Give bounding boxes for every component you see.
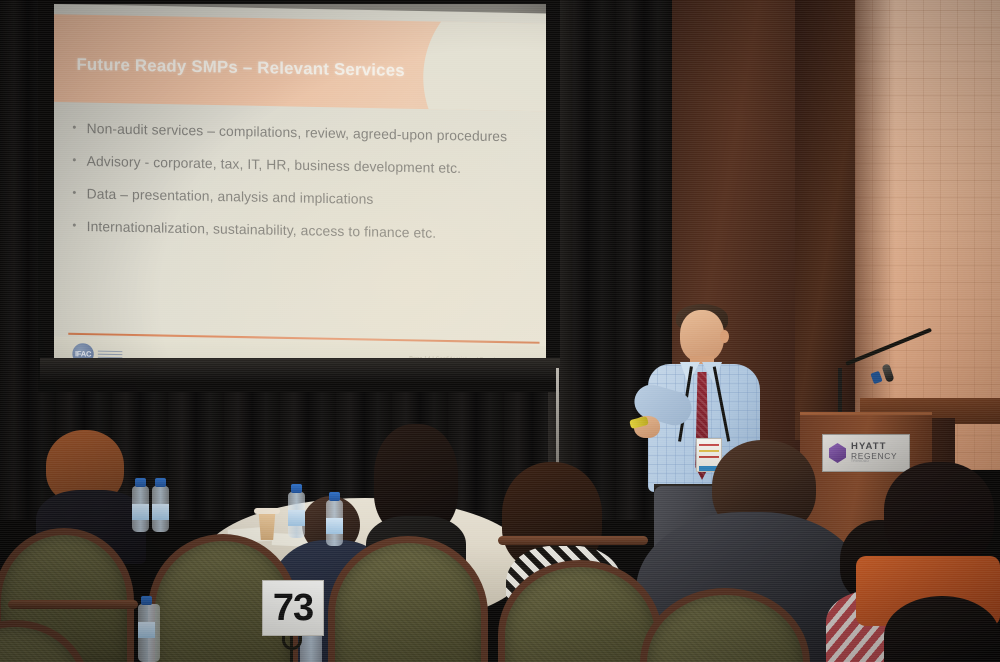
bullet-glyph-icon: • — [72, 217, 86, 237]
slide-bullet-item: • Advisory - corporate, tax, IT, HR, bus… — [72, 151, 541, 179]
water-bottle — [152, 486, 169, 532]
bottle-cap — [141, 596, 152, 605]
slide-bullet-text: Data – presentation, analysis and implic… — [87, 184, 374, 209]
bottle-cap — [155, 478, 166, 487]
water-bottle — [288, 492, 305, 538]
slide-bullet-item: • Internationalization, sustainability, … — [72, 217, 541, 245]
slide-bullet-text: Advisory - corporate, tax, IT, HR, busin… — [87, 152, 461, 179]
attendee-hair — [884, 462, 994, 566]
presenter-head — [680, 310, 724, 362]
chair-rail — [498, 536, 648, 545]
table-number-sign: 73 — [262, 580, 324, 636]
bottle-label — [152, 504, 169, 520]
bottle-label — [326, 518, 343, 534]
microphone-stand — [838, 368, 842, 416]
projection-screen: Future Ready SMPs – Relevant Services • … — [54, 4, 546, 361]
slide-bullet-text: Non-audit services – compilations, revie… — [87, 119, 508, 146]
slide-bullet-item: • Data – presentation, analysis and impl… — [72, 184, 541, 212]
slide-bullet-text: Internationalization, sustainability, ac… — [87, 217, 437, 243]
bottle-label — [288, 510, 305, 526]
attendee-front-right — [884, 596, 1000, 662]
bullet-glyph-icon: • — [72, 184, 86, 204]
water-bottle — [132, 486, 149, 532]
bottle-cap — [291, 484, 302, 493]
bottle-label — [132, 504, 149, 520]
conference-photo: Future Ready SMPs – Relevant Services • … — [0, 0, 1000, 662]
screen-bottom-bar — [40, 358, 560, 384]
slide: Future Ready SMPs – Relevant Services • … — [54, 4, 546, 361]
presenter-ear — [720, 330, 729, 343]
bullet-glyph-icon: • — [72, 151, 86, 171]
chair-rail — [8, 600, 138, 609]
bottle-label — [138, 622, 155, 638]
bottle-cap — [329, 492, 340, 501]
wood-column-secondary — [795, 0, 857, 440]
bottle-cap — [135, 478, 146, 487]
water-bottle — [326, 500, 343, 546]
water-bottle — [138, 604, 160, 662]
slide-bullet-list: • Non-audit services – compilations, rev… — [72, 119, 541, 259]
slide-bullet-item: • Non-audit services – compilations, rev… — [72, 119, 541, 147]
bullet-glyph-icon: • — [72, 119, 86, 139]
attendee-hair — [884, 596, 1000, 662]
